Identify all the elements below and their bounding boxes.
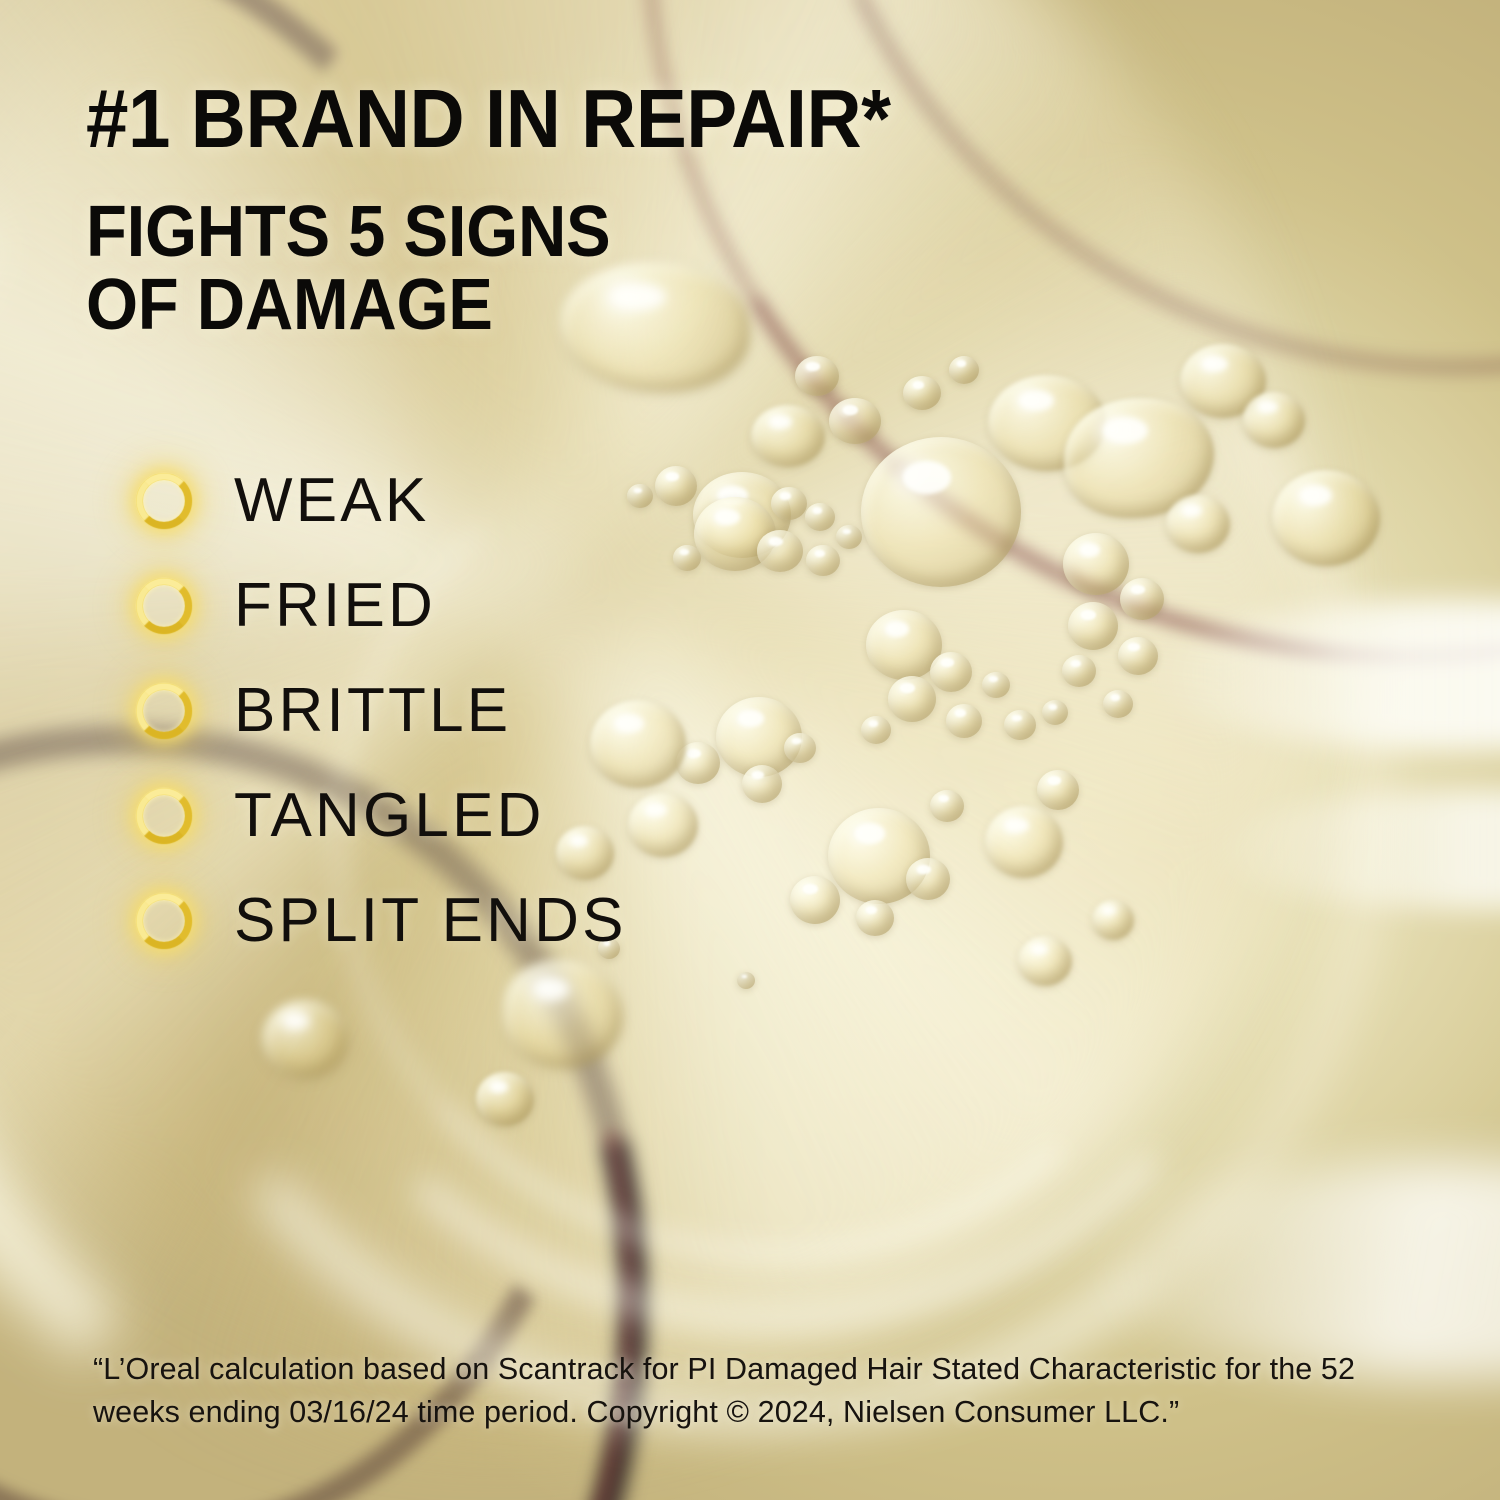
promo-content: #1 BRAND IN REPAIR* FIGHTS 5 SIGNS OF DA… (0, 0, 1500, 1500)
gold-ring-bullet-icon (136, 788, 192, 844)
page-subtitle-line-1: FIGHTS 5 SIGNS (86, 196, 610, 269)
list-item-label: SPLIT ENDS (234, 890, 627, 952)
page-title: #1 BRAND IN REPAIR* (86, 78, 890, 160)
gold-ring-bullet-icon (136, 473, 192, 529)
list-item-label: TANGLED (234, 785, 545, 847)
list-item: SPLIT ENDS (136, 868, 627, 973)
gold-ring-bullet-icon (136, 578, 192, 634)
list-item: FRIED (136, 553, 627, 658)
list-item: BRITTLE (136, 658, 627, 763)
gold-ring-bullet-icon (136, 893, 192, 949)
list-item: WEAK (136, 448, 627, 553)
promo-image-canvas: #1 BRAND IN REPAIR* FIGHTS 5 SIGNS OF DA… (0, 0, 1500, 1500)
page-subtitle: FIGHTS 5 SIGNS OF DAMAGE (86, 196, 610, 343)
page-subtitle-line-2: OF DAMAGE (86, 269, 610, 342)
list-item-label: BRITTLE (234, 680, 511, 742)
gold-ring-bullet-icon (136, 683, 192, 739)
list-item-label: WEAK (234, 470, 429, 532)
list-item: TANGLED (136, 763, 627, 868)
damage-signs-list: WEAK FRIED BRITTLE TANGLED SPLIT ENDS (136, 448, 627, 973)
legal-footnote: “L’Oreal calculation based on Scantrack … (93, 1348, 1433, 1435)
list-item-label: FRIED (234, 575, 436, 637)
